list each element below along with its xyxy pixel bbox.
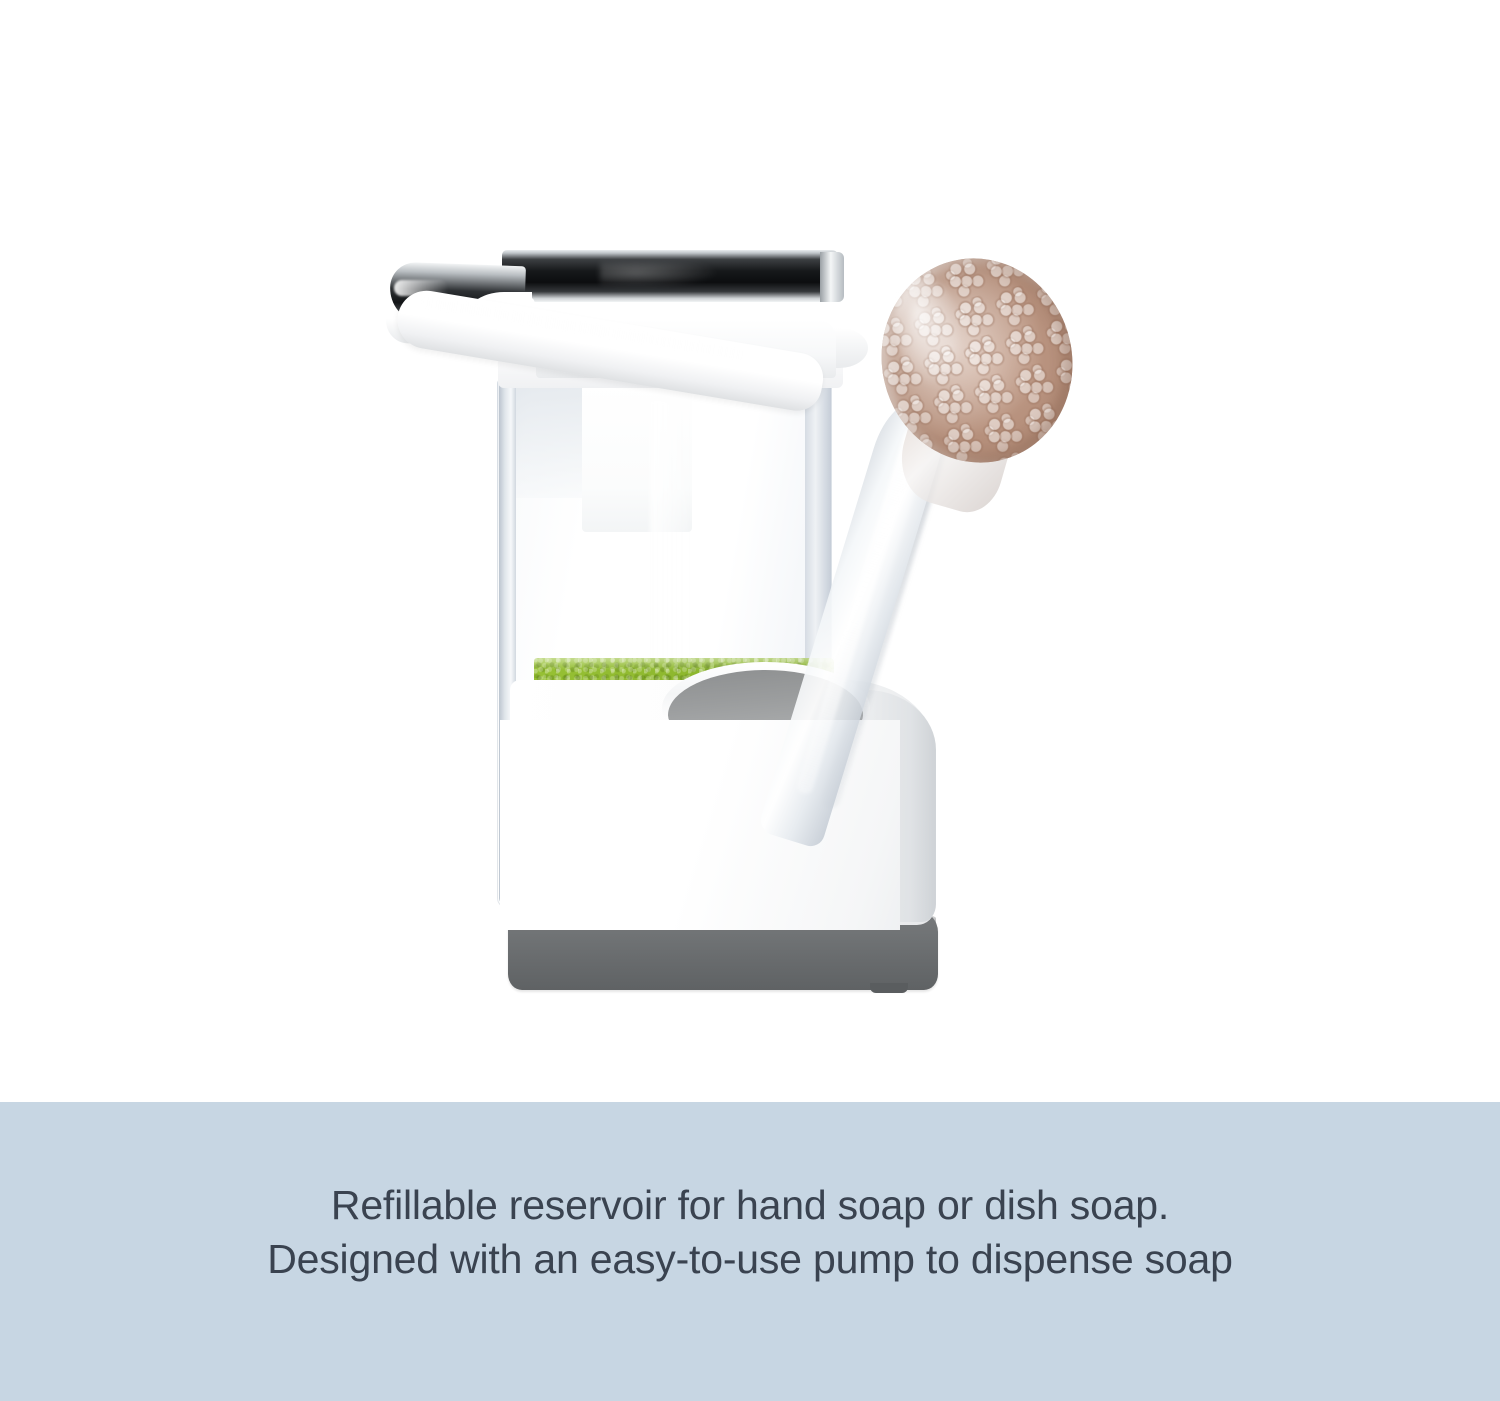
chrome-band-right-cap	[820, 252, 844, 302]
product-illustration	[350, 250, 1110, 1030]
hero-image-area	[0, 0, 1500, 1102]
caption-text: Refillable reservoir for hand soap or di…	[0, 1178, 1500, 1286]
caption-banner: Refillable reservoir for hand soap or di…	[0, 1102, 1500, 1401]
base-foot	[870, 983, 908, 993]
product-feature-card: Refillable Soap Reservoir	[0, 0, 1500, 1401]
chrome-band-gloss	[600, 262, 720, 288]
tank-inner-shadow	[516, 382, 586, 498]
